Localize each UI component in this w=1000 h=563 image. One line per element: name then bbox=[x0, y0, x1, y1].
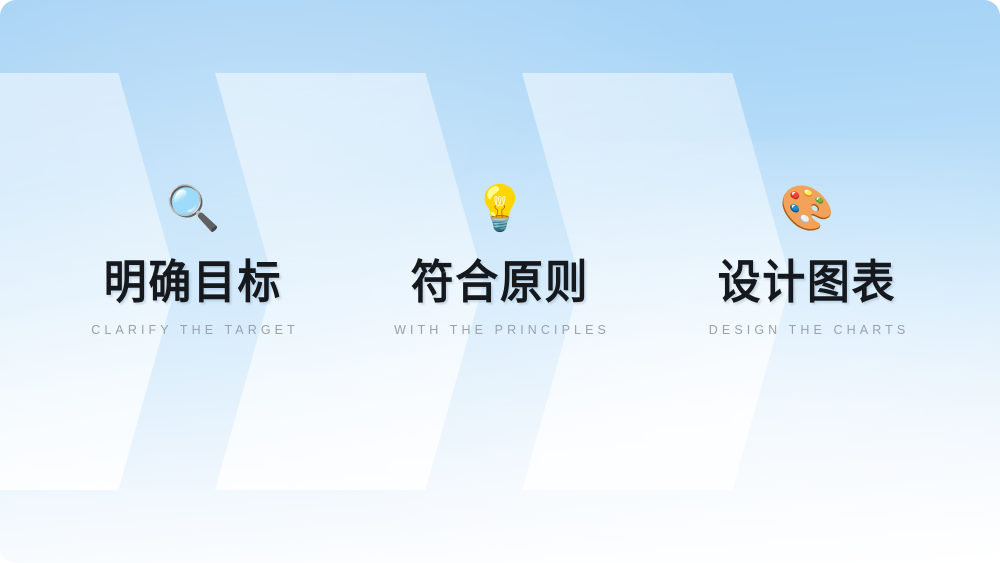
step-card-1-title: 明确目标 bbox=[51, 254, 336, 310]
step-card-3-subtitle: DESIGN THE CHARTS bbox=[654, 322, 960, 338]
step-card-1[interactable]: 🔍 明确目标 CLARIFY THE TARGET bbox=[40, 180, 346, 338]
artist-palette-icon: 🎨 bbox=[654, 180, 960, 238]
step-card-2-title: 符合原则 bbox=[358, 254, 643, 310]
step-card-1-subtitle: CLARIFY THE TARGET bbox=[40, 322, 346, 338]
step-card-3[interactable]: 🎨 设计图表 DESIGN THE CHARTS bbox=[654, 180, 960, 338]
light-bulb-icon: 💡 bbox=[347, 180, 653, 238]
magnifying-glass-icon: 🔍 bbox=[40, 180, 346, 238]
step-card-2[interactable]: 💡 符合原则 WITH THE PRINCIPLES bbox=[347, 180, 653, 338]
step-card-3-title: 设计图表 bbox=[665, 254, 950, 310]
slide-canvas: 🔍 明确目标 CLARIFY THE TARGET 💡 符合原则 WITH TH… bbox=[0, 0, 1000, 563]
step-card-2-subtitle: WITH THE PRINCIPLES bbox=[347, 322, 653, 338]
